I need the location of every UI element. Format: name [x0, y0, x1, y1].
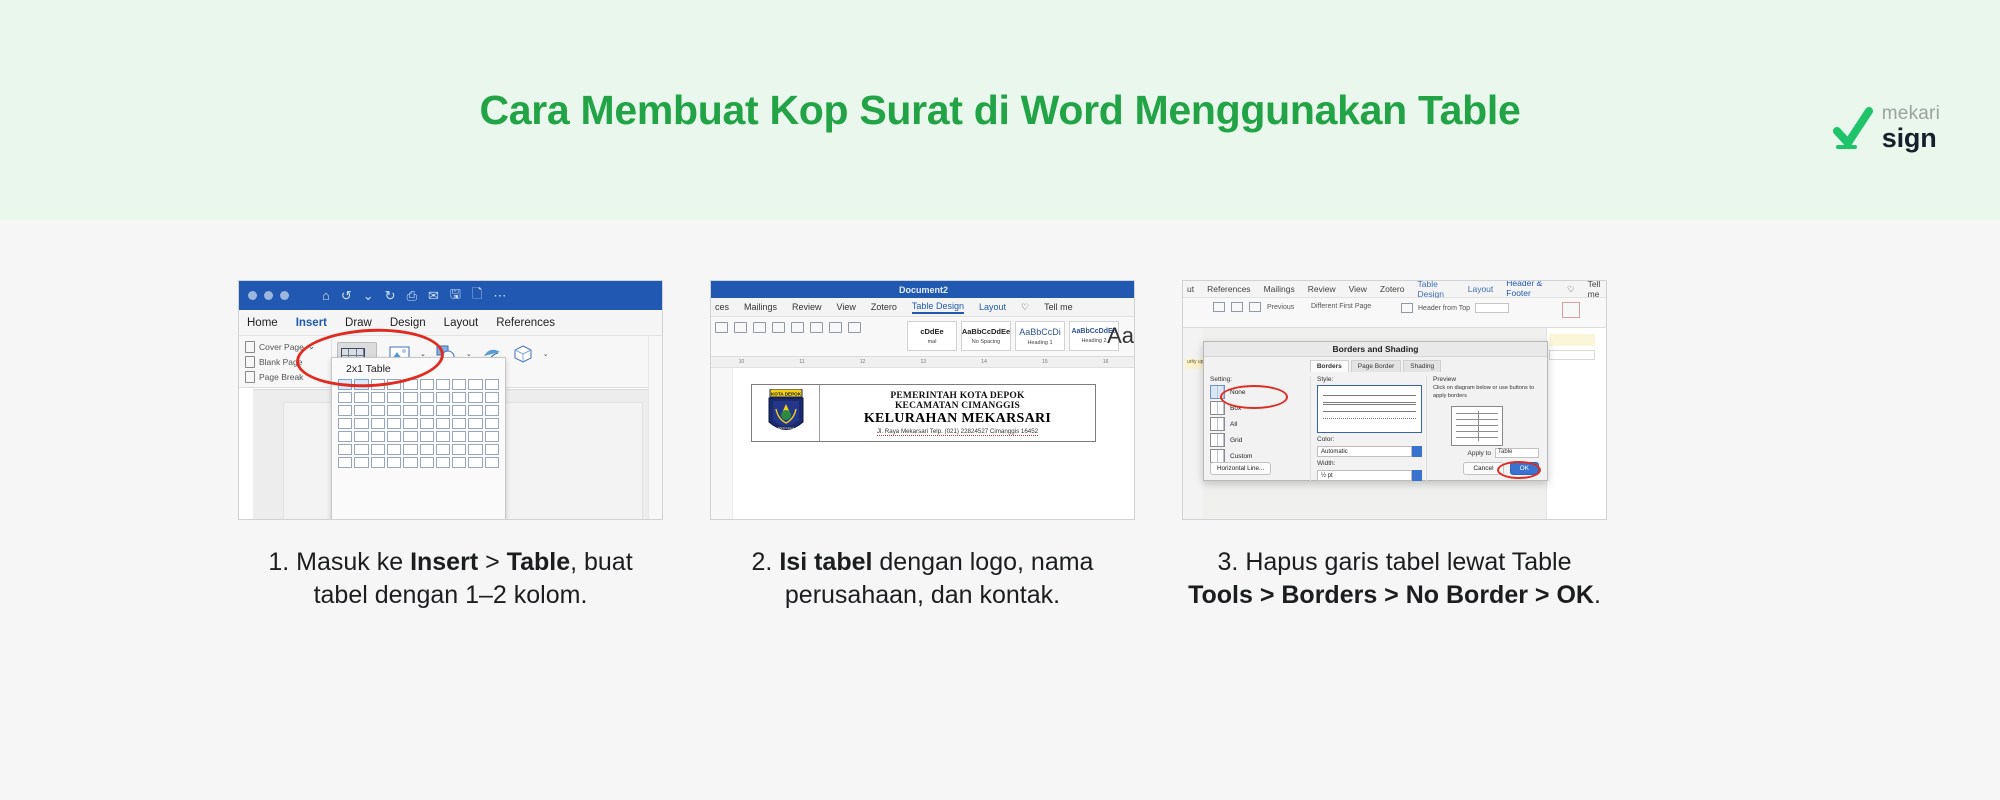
step-caption-2: 2. Isi tabel dengan logo, nama perusahaa… [710, 546, 1135, 612]
grid-cell[interactable] [436, 418, 450, 429]
horizontal-line-button[interactable]: Horizontal Line... [1210, 462, 1271, 475]
document-area: KOTA DEPOK PANCASILA PEMERINTAH KOTA DEP… [711, 368, 1135, 520]
style-line-thin[interactable] [1323, 411, 1416, 412]
grid-cell[interactable] [452, 444, 466, 455]
grid-cell[interactable] [387, 444, 401, 455]
grid-cell[interactable] [436, 405, 450, 416]
grid-cell[interactable] [354, 418, 368, 429]
dialog-tab-shading[interactable]: Shading [1403, 360, 1441, 372]
grid-cell[interactable] [338, 431, 352, 442]
grid-cell[interactable] [452, 418, 466, 429]
brand-name-mekari: mekari [1882, 104, 1940, 123]
grid-cell[interactable] [403, 418, 417, 429]
dialog-tab-page-border[interactable]: Page Border [1351, 360, 1402, 372]
grid-cell[interactable] [403, 405, 417, 416]
grid-cell[interactable] [420, 392, 434, 403]
grid-cell[interactable] [387, 418, 401, 429]
grid-cell[interactable] [403, 392, 417, 403]
grid-cell[interactable] [403, 457, 417, 468]
grid-cell[interactable] [485, 392, 499, 403]
dialog-tab-borders[interactable]: Borders [1310, 360, 1349, 372]
grid-cell[interactable] [338, 457, 352, 468]
blank-page-icon [245, 356, 255, 368]
tab-layout[interactable]: Layout [979, 302, 1006, 312]
header-from-top-icon [1401, 303, 1413, 313]
lightbulb-icon[interactable]: ♡ [1021, 302, 1029, 313]
tab-mailings[interactable]: Mailings [744, 302, 777, 312]
grid-cell[interactable] [420, 444, 434, 455]
grid-cell[interactable] [420, 405, 434, 416]
style-normal[interactable]: cDdEe mal [907, 321, 957, 351]
word-titlebar: ⌂ ↺ ⌄ ↻ ⎙ ✉ 🖫 🗋 ⋯ [239, 281, 663, 310]
letterhead-logo-cell: KOTA DEPOK PANCASILA [752, 385, 820, 441]
tab-insert[interactable]: Insert [296, 317, 327, 329]
apply-to-row: Apply to Table [1468, 448, 1540, 458]
mail-icon[interactable]: ✉ [428, 288, 439, 304]
left-ruler [711, 368, 733, 520]
numbering-icon[interactable] [753, 322, 766, 333]
dialog-tabs: Borders Page Border Shading [1204, 357, 1547, 372]
save-icon[interactable]: 🖫 [450, 285, 461, 307]
grid-cell[interactable] [485, 405, 499, 416]
grid-cell[interactable] [403, 444, 417, 455]
grid-cell[interactable] [420, 418, 434, 429]
step-card-2: Document2 ces Mailings Review View Zoter… [710, 280, 1135, 612]
color-select[interactable]: Automatic [1317, 446, 1422, 457]
chevron-down-icon[interactable]: ⌄ [543, 350, 549, 358]
ribbon-tabs: Home Insert Draw Design Layout Reference… [239, 310, 663, 336]
grid-cell[interactable] [436, 444, 450, 455]
preview-help-text: Click on diagram below or use buttons to… [1433, 385, 1541, 400]
grid-cell[interactable] [371, 431, 385, 442]
show-marks-icon[interactable] [848, 322, 861, 333]
grid-cell[interactable] [452, 405, 466, 416]
page-break-icon [245, 371, 255, 383]
lightbulb-icon[interactable]: ♡ [1567, 284, 1575, 295]
grid-cell[interactable] [452, 431, 466, 442]
border-preview-diagram[interactable] [1451, 406, 1503, 446]
border-all-icon [1210, 417, 1225, 431]
styles-gallery: cDdEe mal AaBbCcDdEe No Spacing AaBbCcDi… [907, 321, 1119, 351]
step-card-3: ut References Mailings Review View Zoter… [1182, 280, 1607, 612]
bullets-icon[interactable] [734, 322, 747, 333]
grid-cell[interactable] [354, 405, 368, 416]
color-label: Color: [1317, 436, 1422, 443]
tab-layout-partial[interactable]: ut [1187, 284, 1194, 294]
grid-cell[interactable] [485, 379, 499, 390]
grid-cell[interactable] [338, 444, 352, 455]
grid-cell[interactable] [436, 379, 450, 390]
style-listbox[interactable] [1317, 385, 1422, 433]
page-title: Cara Membuat Kop Surat di Word Menggunak… [479, 87, 1520, 134]
word-titlebar: Document2 [711, 281, 1135, 298]
undo-icon[interactable]: ↺ [341, 288, 352, 304]
increase-indent-icon[interactable] [810, 322, 823, 333]
grid-cell[interactable] [338, 392, 352, 403]
styles-pane-icon[interactable]: Aa [1107, 323, 1134, 349]
border-custom-icon [1210, 449, 1225, 463]
ribbon: cDdEe mal AaBbCcDdEe No Spacing AaBbCcDi… [711, 317, 1135, 357]
grid-cell[interactable] [354, 444, 368, 455]
tab-view[interactable]: View [1349, 284, 1367, 294]
apply-to-select[interactable]: Table [1495, 448, 1539, 458]
home-icon[interactable]: ⌂ [322, 288, 330, 303]
grid-cell[interactable] [387, 457, 401, 468]
tab-tell-me[interactable]: Tell me [1044, 302, 1073, 312]
screenshot-letterhead: Document2 ces Mailings Review View Zoter… [710, 280, 1135, 520]
link-previous-icon[interactable] [1249, 302, 1261, 312]
grid-cell[interactable] [485, 418, 499, 429]
grid-cell[interactable] [420, 431, 434, 442]
brand-name-sign: sign [1882, 125, 1940, 152]
grid-cell[interactable] [338, 405, 352, 416]
letterhead-line-4: Jl. Raya Mekarsari Telp. (021) 22824527 … [877, 428, 1038, 436]
highlighted-row [1549, 334, 1595, 346]
svg-text:PANCASILA: PANCASILA [777, 426, 794, 430]
grid-cell[interactable] [468, 431, 482, 442]
right-document-area [1546, 328, 1606, 520]
step-caption-1: 1. Masuk ke Insert > Table, buat tabel d… [238, 546, 663, 612]
ribbon-tabs: ces Mailings Review View Zotero Table De… [711, 298, 1135, 317]
grid-cell[interactable] [371, 392, 385, 403]
left-panel [1183, 328, 1203, 520]
width-select[interactable]: ½ pt [1317, 470, 1422, 481]
tab-layout[interactable]: Layout [1468, 284, 1494, 294]
letterhead-line-2: KECAMATAN CIMANGGIS [895, 401, 1020, 411]
steps-container: ⌂ ↺ ⌄ ↻ ⎙ ✉ 🖫 🗋 ⋯ Home Insert Draw [0, 220, 2000, 800]
border-box-icon [1210, 401, 1225, 415]
text-highlight-icon[interactable] [715, 322, 728, 333]
setting-option-custom[interactable]: Custom [1210, 449, 1306, 463]
chevron-down-icon[interactable] [1412, 446, 1422, 457]
tab-layout[interactable]: Layout [444, 317, 479, 329]
tab-review[interactable]: Review [792, 302, 822, 312]
horizontal-ruler: 10 11 12 13 14 15 16 [711, 357, 1135, 368]
window-minimize-icon[interactable] [264, 291, 273, 300]
grid-cell[interactable] [338, 418, 352, 429]
tab-references[interactable]: References [1207, 284, 1250, 294]
grid-cell[interactable] [485, 444, 499, 455]
tab-mailings[interactable]: Mailings [1264, 284, 1295, 294]
header-from-top-input[interactable] [1475, 303, 1509, 313]
tab-table-design[interactable]: Table Design [912, 301, 964, 314]
3d-model-icon[interactable] [512, 344, 534, 364]
multilevel-list-icon[interactable] [772, 322, 785, 333]
previous-section-icon[interactable] [1213, 302, 1225, 312]
grid-cell[interactable] [371, 444, 385, 455]
tab-references[interactable]: References [496, 317, 555, 329]
grid-cell[interactable] [468, 405, 482, 416]
header-from-top-label: Header from Top [1418, 305, 1470, 312]
grid-cell[interactable] [436, 392, 450, 403]
window-maximize-icon[interactable] [280, 291, 289, 300]
kota-depok-emblem-icon: KOTA DEPOK PANCASILA [766, 389, 806, 437]
red-ellipse-ok [1497, 461, 1541, 479]
grid-cell[interactable] [420, 457, 434, 468]
grid-cell[interactable] [468, 392, 482, 403]
tab-table-design[interactable]: Table Design [1417, 280, 1454, 299]
sort-icon[interactable] [829, 322, 842, 333]
tab-design[interactable]: Design [390, 317, 426, 329]
grid-cell[interactable] [468, 418, 482, 429]
more-icon[interactable]: ⋯ [493, 288, 506, 304]
style-no-spacing[interactable]: AaBbCcDdEe No Spacing [961, 321, 1011, 351]
style-line-dotted[interactable] [1323, 418, 1416, 419]
brand-logo: mekari sign [1833, 104, 1940, 152]
grid-cell[interactable] [452, 457, 466, 468]
close-header-footer-button[interactable] [1562, 302, 1580, 318]
setting-label: Setting: [1210, 376, 1306, 383]
tab-review[interactable]: Review [1308, 284, 1336, 294]
grid-cell[interactable] [452, 379, 466, 390]
letterhead-table: KOTA DEPOK PANCASILA PEMERINTAH KOTA DEP… [751, 384, 1096, 442]
width-label: Width: [1317, 460, 1422, 467]
tab-zotero[interactable]: Zotero [1380, 284, 1405, 294]
letterhead-text-cell: PEMERINTAH KOTA DEPOK KECAMATAN CIMANGGI… [820, 385, 1095, 441]
white-row [1549, 350, 1595, 360]
grid-cell[interactable] [452, 392, 466, 403]
step-caption-3: 3. Hapus garis tabel lewat Table Tools >… [1182, 546, 1607, 612]
screenshot-borders-dialog: ut References Mailings Review View Zoter… [1182, 280, 1607, 520]
screenshot-insert-table: ⌂ ↺ ⌄ ↻ ⎙ ✉ 🖫 🗋 ⋯ Home Insert Draw [238, 280, 663, 520]
style-column: Style: Color: Automatic [1310, 376, 1422, 481]
style-line-double[interactable] [1323, 402, 1416, 405]
tab-home[interactable]: Home [247, 317, 278, 329]
window-close-icon[interactable] [248, 291, 257, 300]
dialog-title: Borders and Shading [1204, 342, 1547, 357]
setting-option-grid[interactable]: Grid [1210, 433, 1306, 447]
letterhead-line-3: KELURAHAN MEKARSARI [864, 411, 1051, 427]
setting-option-all[interactable]: All [1210, 417, 1306, 431]
grid-cell[interactable] [420, 379, 434, 390]
grid-cell[interactable] [436, 457, 450, 468]
different-first-page-checkbox[interactable]: Different First Page [1311, 303, 1371, 310]
table-size-grid[interactable] [332, 379, 505, 468]
print-icon[interactable]: ⎙ [407, 288, 417, 304]
tab-draw[interactable]: Draw [345, 317, 372, 329]
grid-cell[interactable] [468, 444, 482, 455]
ribbon-tabs: ut References Mailings Review View Zoter… [1183, 281, 1607, 298]
grid-cell[interactable] [371, 457, 385, 468]
chevron-down-icon[interactable] [1412, 470, 1422, 481]
next-section-icon[interactable] [1231, 302, 1243, 312]
previous-label[interactable]: Previous [1267, 304, 1294, 311]
page-header: Cara Membuat Kop Surat di Word Menggunak… [0, 0, 2000, 220]
right-panel [648, 336, 662, 520]
chevron-down-icon[interactable]: ⌄ [363, 288, 374, 304]
grid-cell[interactable] [403, 431, 417, 442]
grid-cell[interactable] [354, 392, 368, 403]
letterhead-line-1: PEMERINTAH KOTA DEPOK [890, 391, 1024, 401]
grid-cell[interactable] [485, 431, 499, 442]
borders-and-shading-dialog: Borders and Shading Borders Page Border … [1203, 341, 1548, 481]
border-grid-icon [1210, 433, 1225, 447]
grid-cell[interactable] [387, 405, 401, 416]
grid-cell[interactable] [387, 392, 401, 403]
decrease-indent-icon[interactable] [791, 322, 804, 333]
preview-label: Preview [1433, 376, 1541, 383]
redo-icon[interactable]: ↻ [385, 288, 396, 304]
step-card-1: ⌂ ↺ ⌄ ↻ ⎙ ✉ 🖫 🗋 ⋯ Home Insert Draw [238, 280, 663, 612]
grid-cell[interactable] [387, 431, 401, 442]
grid-cell[interactable] [468, 379, 482, 390]
grid-cell[interactable] [468, 457, 482, 468]
style-heading-1[interactable]: AaBbCcDi Heading 1 [1015, 321, 1065, 351]
grid-cell[interactable] [371, 418, 385, 429]
cover-page-icon [245, 341, 255, 353]
style-label: Style: [1317, 376, 1422, 383]
tab-references-partial[interactable]: ces [715, 302, 729, 312]
svg-text:KOTA DEPOK: KOTA DEPOK [770, 391, 801, 396]
tab-tell-me[interactable]: Tell me [1588, 280, 1607, 299]
grid-cell[interactable] [436, 431, 450, 442]
red-ellipse-none [1220, 385, 1288, 409]
grid-cell[interactable] [354, 431, 368, 442]
grid-cell[interactable] [485, 457, 499, 468]
style-line-single[interactable] [1323, 395, 1416, 396]
grid-cell[interactable] [371, 405, 385, 416]
ribbon: Previous Different First Page Header fro… [1183, 298, 1607, 328]
grid-cell[interactable] [354, 457, 368, 468]
new-doc-icon[interactable]: 🗋 [472, 285, 482, 307]
tab-view[interactable]: View [837, 302, 856, 312]
check-icon [1833, 105, 1873, 151]
tab-zotero[interactable]: Zotero [871, 302, 897, 312]
